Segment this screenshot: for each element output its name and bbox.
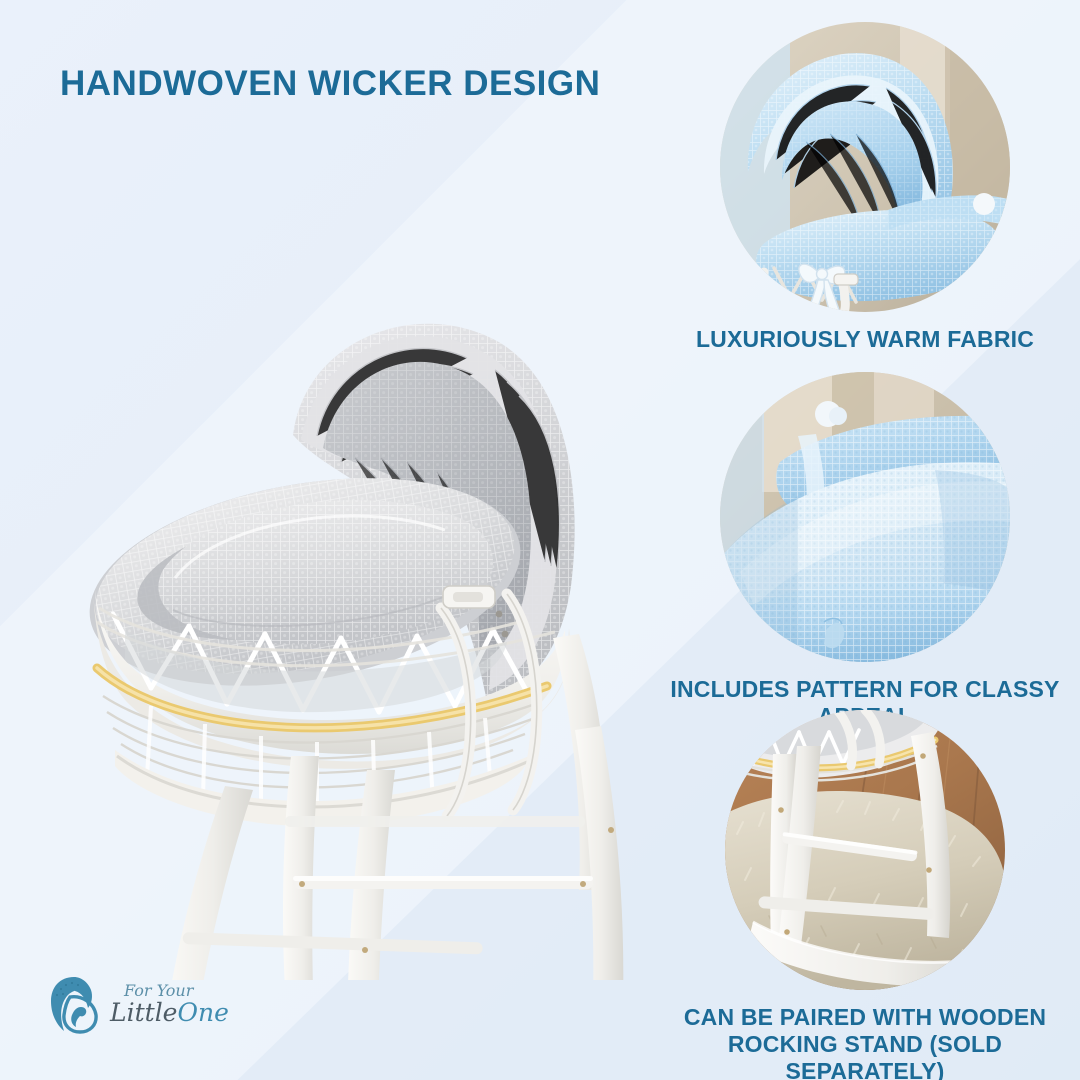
brand-wordmark: For Your LittleOne [110, 983, 229, 1025]
feature-warm-fabric: LUXURIOUSLY WARM FABRIC [655, 22, 1075, 353]
brand-line-1: For Your [124, 983, 229, 999]
page-title: HANDWOVEN WICKER DESIGN [60, 64, 600, 104]
poster-root: HANDWOVEN WICKER DESIGN [0, 0, 1080, 1080]
brand-line-2-little: Little [110, 998, 177, 1027]
brand-logo: For Your LittleOne [48, 968, 238, 1040]
feature-rocking-stand-caption: CAN BE PAIRED WITH WOODEN ROCKING STAND … [655, 1004, 1075, 1080]
brand-line-2-one: One [177, 998, 228, 1027]
feature-rocking-stand: CAN BE PAIRED WITH WOODEN ROCKING STAND … [655, 710, 1075, 1080]
feature-warm-fabric-image [720, 22, 1010, 312]
feature-rocking-stand-image [725, 710, 1005, 990]
hero-product-image [55, 190, 635, 980]
brand-line-2: LittleOne [110, 1000, 229, 1025]
feature-warm-fabric-caption: LUXURIOUSLY WARM FABRIC [655, 326, 1075, 353]
feature-pattern-image [720, 372, 1010, 662]
feature-pattern: INCLUDES PATTERN FOR CLASSY APPEAL [655, 372, 1075, 730]
mother-and-baby-icon [48, 973, 104, 1035]
